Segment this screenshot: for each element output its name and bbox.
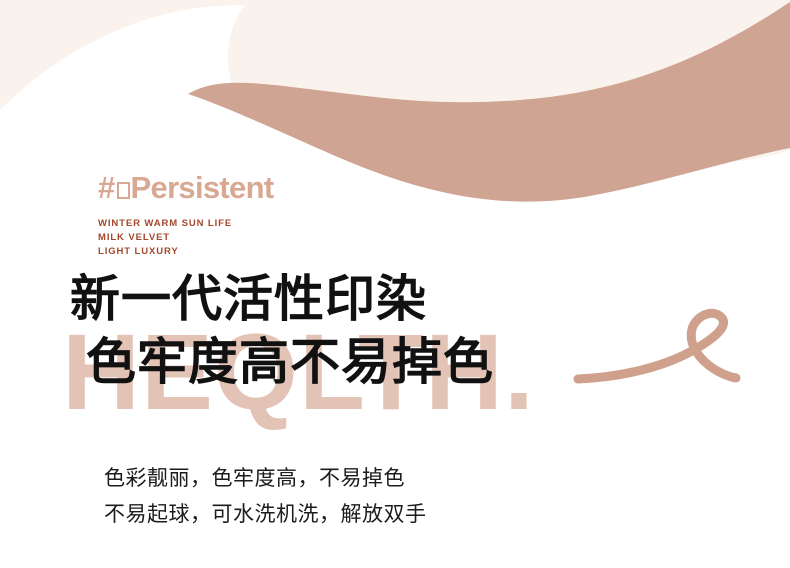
tofu-placeholder-icon — [117, 182, 130, 199]
ribbon-swoosh-doodle — [578, 313, 736, 379]
top-cream-arc — [0, 0, 790, 110]
headline: 新一代活性印染 色牢度高不易掉色 — [70, 268, 494, 394]
headline-line-1: 新一代活性印染 — [70, 268, 494, 331]
brand-name-row: #Persistent — [98, 172, 518, 203]
body-copy-line-1: 色彩靓丽，色牢度高，不易掉色 — [104, 461, 427, 497]
body-copy-line-2: 不易起球，可水洗机洗，解放双手 — [104, 497, 427, 533]
upper-right-cream-field — [228, 0, 790, 163]
headline-line-2: 色牢度高不易掉色 — [70, 331, 494, 394]
brand-tagline-line-2: MILK VELVET — [98, 231, 518, 245]
brand-name-text: Persistent — [131, 170, 274, 205]
brand-tagline-line-3: LIGHT LUXURY — [98, 245, 518, 259]
brand-tagline: WINTER WARM SUN LIFE MILK VELVET LIGHT L… — [98, 217, 518, 258]
brand-lockup: #Persistent WINTER WARM SUN LIFE MILK VE… — [98, 172, 518, 258]
brand-tagline-line-1: WINTER WARM SUN LIFE — [98, 217, 518, 231]
hash-symbol: # — [98, 170, 115, 205]
product-banner: #Persistent WINTER WARM SUN LIFE MILK VE… — [0, 0, 790, 568]
body-copy: 色彩靓丽，色牢度高，不易掉色 不易起球，可水洗机洗，解放双手 — [104, 461, 427, 533]
